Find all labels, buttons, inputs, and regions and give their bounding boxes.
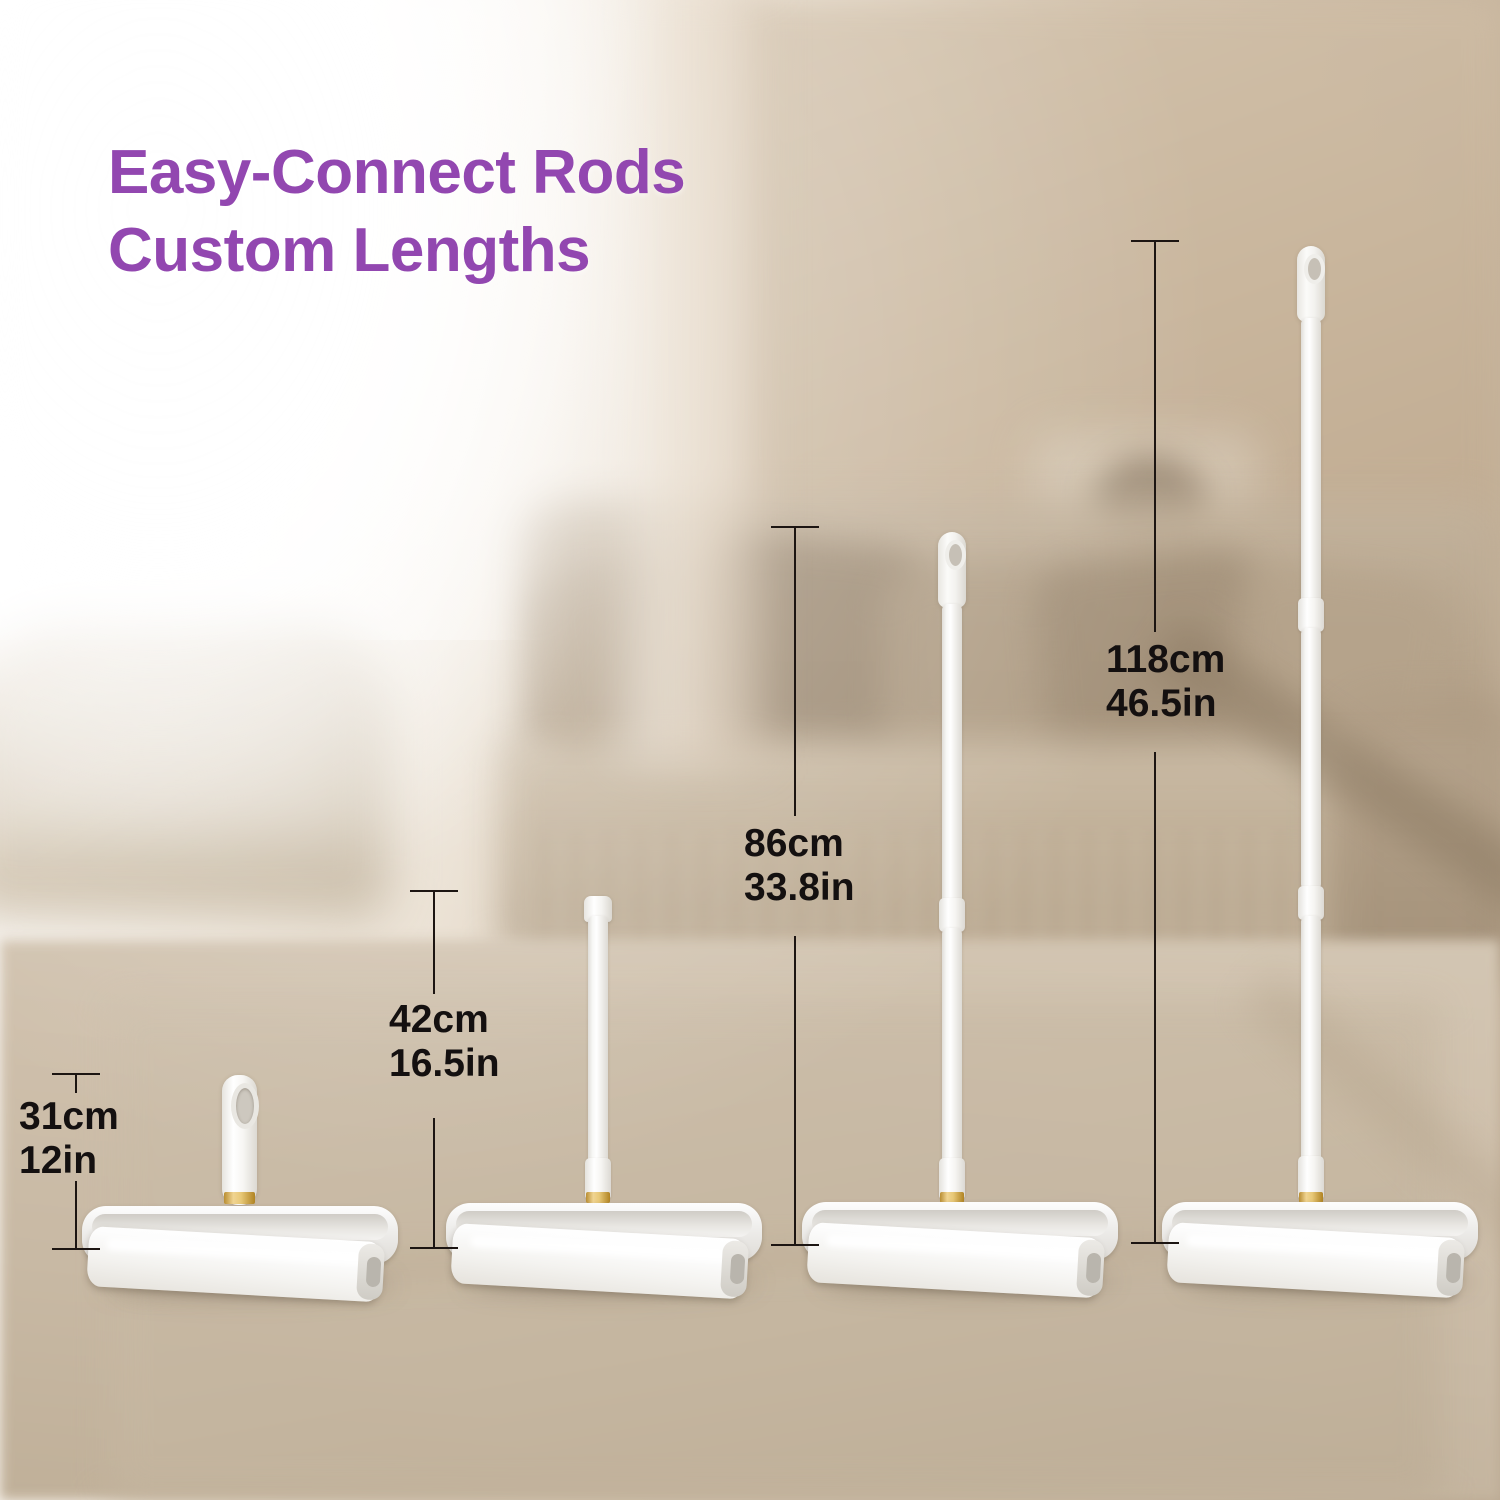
rod-joint-collar-lower (1298, 886, 1324, 920)
dimension-line-lower (1154, 752, 1156, 1244)
extension-rod-1 (1301, 318, 1321, 604)
roller-end-cap (1436, 1240, 1465, 1297)
dimension-label-config-4: 118cm 46.5in (1106, 638, 1225, 725)
infographic-canvas: Easy-Connect Rods Custom Lengths 31cm 12… (0, 0, 1500, 1500)
roller-end-cap-inner (1446, 1252, 1462, 1284)
hang-hole-icon (1304, 254, 1325, 284)
extension-rod-2 (1301, 628, 1321, 890)
roller-highlight (1186, 1234, 1445, 1260)
roller-head (1162, 1202, 1478, 1288)
product-config-4 (0, 0, 1500, 1300)
extension-rod-3 (1301, 916, 1321, 1164)
dimension-line-upper (1154, 240, 1156, 632)
rod-joint-collar-upper (1298, 598, 1324, 632)
dimension-tick-bottom (1131, 1242, 1179, 1244)
